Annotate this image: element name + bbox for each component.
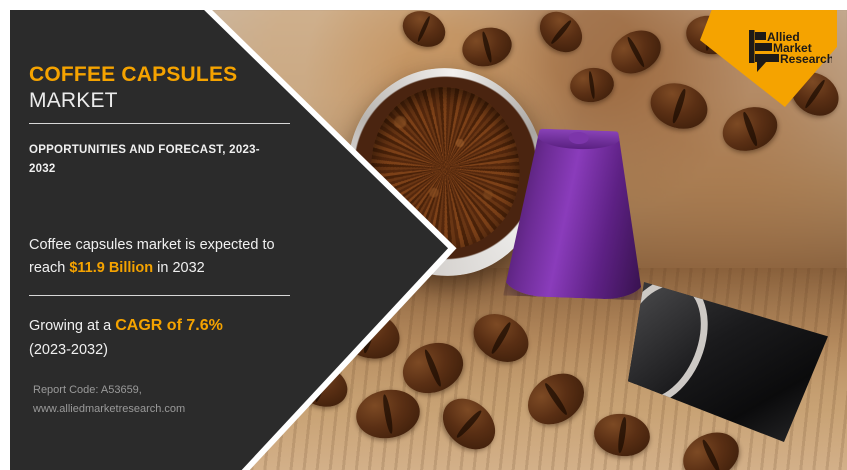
report-subtitle: OPPORTUNITIES AND FORECAST, 2023-2032 <box>29 141 279 178</box>
report-code: Report Code: A53659, <box>33 381 283 400</box>
market-value-statement: Coffee capsules market is expected to re… <box>29 234 291 281</box>
cagr-prefix: Growing at a <box>29 318 115 334</box>
report-footer: Report Code: A53659, www.alliedmarketres… <box>33 381 283 419</box>
market-value-highlight: $11.9 Billion <box>69 260 153 276</box>
cagr-statement: Growing at a CAGR of 7.6%(2023-2032) <box>29 313 291 362</box>
divider-top <box>29 123 290 124</box>
title-line-1: COFFEE CAPSULES <box>29 62 237 88</box>
page-title: COFFEE CAPSULES MARKET <box>29 62 237 113</box>
logo-text-line-3: Research <box>780 52 832 66</box>
website-url[interactable]: www.alliedmarketresearch.com <box>33 400 283 419</box>
cagr-period: (2023-2032) <box>29 342 108 358</box>
allied-market-research-logo-icon[interactable]: Allied Market Research <box>748 29 832 73</box>
divider-bottom <box>29 295 290 296</box>
cagr-highlight: CAGR of 7.6% <box>115 317 223 334</box>
statement-suffix: in 2032 <box>153 260 205 276</box>
report-content: COFFEE CAPSULES MARKET OPPORTUNITIES AND… <box>29 0 309 470</box>
infographic-banner: COFFEE CAPSULES MARKET OPPORTUNITIES AND… <box>0 0 847 470</box>
title-line-2: MARKET <box>29 88 237 114</box>
purple-capsule-nub <box>569 132 589 145</box>
